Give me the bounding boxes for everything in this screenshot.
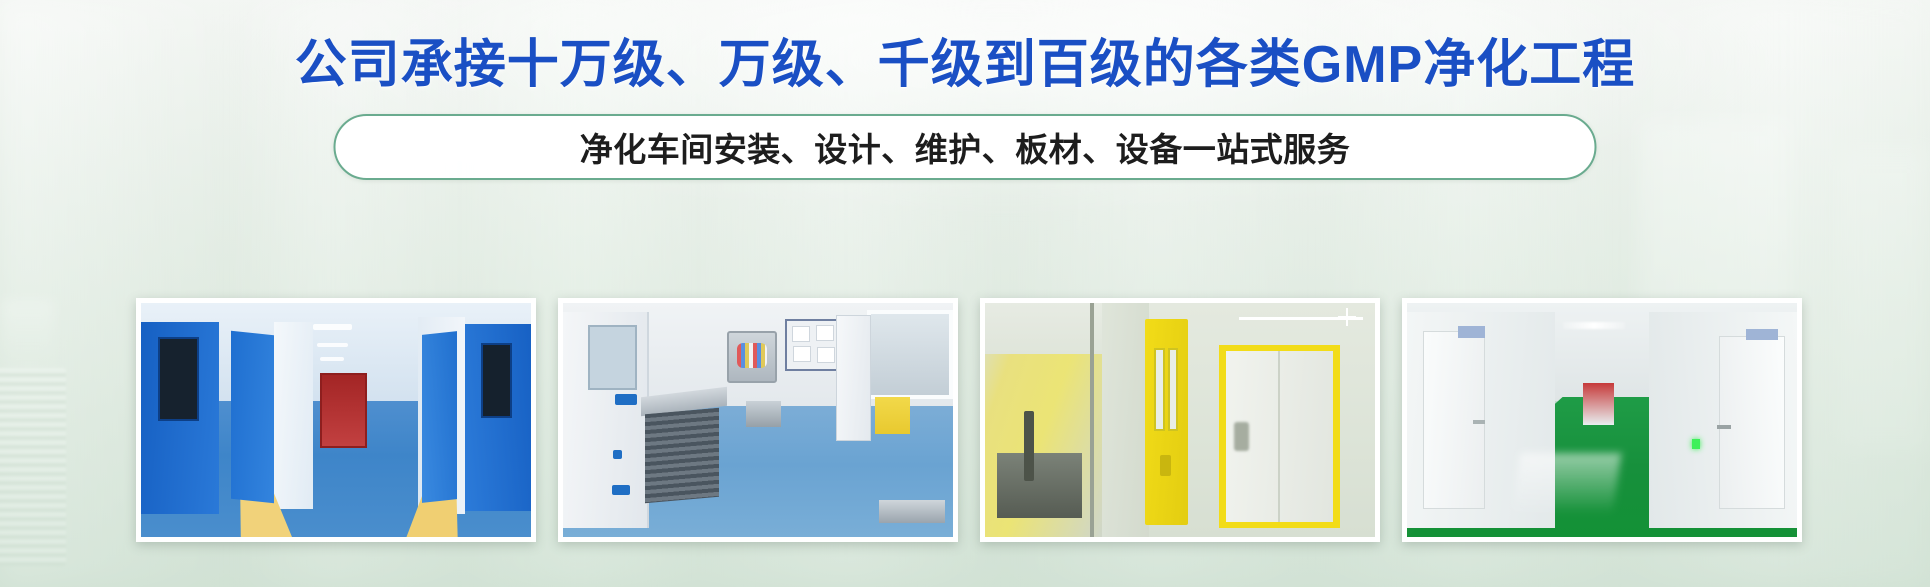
corridor-end-red-door xyxy=(320,373,367,448)
notice-sheet xyxy=(817,347,836,363)
glass-partition-top-frame xyxy=(985,303,1102,354)
notice-sheet xyxy=(816,325,835,341)
cabinet-glass-panel xyxy=(588,325,637,390)
door-lock xyxy=(1160,455,1171,476)
door-window xyxy=(481,343,513,418)
glass-frame-edge xyxy=(1090,303,1094,537)
photo-image-4 xyxy=(1407,303,1797,537)
yellow-warning-sign xyxy=(875,397,910,434)
photo-image-3 xyxy=(985,303,1375,537)
blue-door-left-far xyxy=(231,331,274,504)
door-vent-panel xyxy=(1234,422,1250,451)
lab-cabinet xyxy=(563,312,649,527)
subtitle-text: 净化车间安装、设计、维护、板材、设备一站式服务 xyxy=(580,123,1351,171)
green-status-light-icon xyxy=(1692,439,1700,449)
blue-door-right-far xyxy=(422,332,457,504)
gallery-photo-blue-cleanroom-corridor[interactable] xyxy=(136,298,536,542)
subtitle-pill: 净化车间安装、设计、维护、板材、设备一站式服务 xyxy=(334,114,1597,180)
gallery-photo-yellow-cleanroom-doors[interactable] xyxy=(980,298,1380,542)
upright-equipment-pole xyxy=(1024,411,1034,481)
pass-through-box xyxy=(727,331,778,382)
lab-side-door xyxy=(836,315,871,441)
ceiling-lamp xyxy=(1563,322,1625,329)
middle-wall-panel xyxy=(1102,303,1149,537)
floor-reflection xyxy=(1512,453,1622,514)
door-handle-right xyxy=(1717,425,1731,429)
notice-sheet xyxy=(792,326,811,342)
gallery-photo-cleanroom-laboratory-interior[interactable] xyxy=(558,298,958,542)
yellow-door-frame xyxy=(1219,345,1340,528)
yellow-cleanroom-door xyxy=(1145,319,1188,525)
stainless-stool xyxy=(746,401,781,427)
ceiling-lamp xyxy=(320,357,343,362)
lab-observation-window xyxy=(867,310,953,399)
gallery-photo-green-epoxy-floor-corridor[interactable] xyxy=(1402,298,1802,542)
blue-door-left-near xyxy=(141,322,219,514)
photo-image-2 xyxy=(563,303,953,537)
corridor-vanishing-point xyxy=(1583,383,1614,425)
door-window xyxy=(158,337,199,421)
ceiling-lamp xyxy=(313,324,352,330)
door-handle-left xyxy=(1473,420,1485,424)
stainless-table xyxy=(879,500,945,523)
project-photo-gallery xyxy=(136,298,1798,542)
notice-sheet xyxy=(793,346,812,362)
door-split-line xyxy=(1278,351,1280,523)
room-sign-right xyxy=(1746,329,1777,341)
cabinet-handle xyxy=(613,450,621,459)
cabinet-handle xyxy=(612,485,630,496)
ceiling-lamp xyxy=(317,343,348,348)
photo-image-1 xyxy=(141,303,531,537)
room-sign-left xyxy=(1458,326,1485,338)
door-window xyxy=(1168,348,1178,430)
door-window xyxy=(1154,348,1164,430)
cabinet-handle xyxy=(615,394,637,405)
ceiling-cross-marker-icon xyxy=(1338,308,1356,326)
page-title: 公司承接十万级、万级、千级到百级的各类GMP净化工程 xyxy=(0,22,1930,97)
white-door-right xyxy=(1719,336,1785,509)
equipment-inside-room xyxy=(997,453,1083,519)
striped-towel xyxy=(737,343,767,369)
drying-rack xyxy=(645,407,719,502)
blue-door-right-near xyxy=(465,324,531,511)
